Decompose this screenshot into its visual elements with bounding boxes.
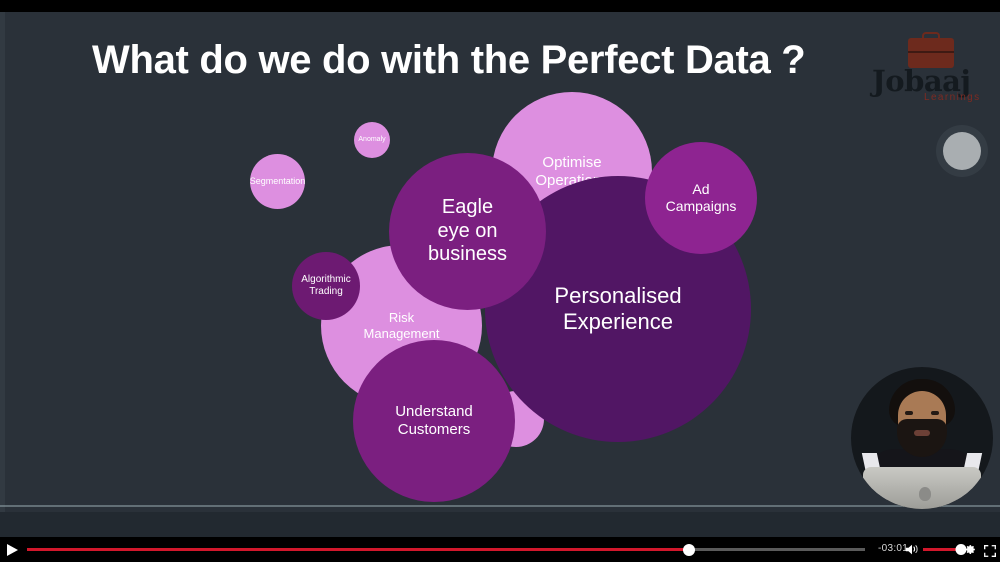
player-controls: -03:01 bbox=[0, 537, 1000, 562]
bubble-label: PersonalisedExperience bbox=[548, 283, 687, 335]
bubble-label: UnderstandCustomers bbox=[389, 403, 479, 438]
slide-canvas[interactable]: SegmentationAnomalyOptimiseOperationsAdC… bbox=[0, 12, 1000, 537]
bubble-label: Anomaly bbox=[352, 136, 391, 144]
bubble-label: AdCampaigns bbox=[660, 181, 743, 214]
brand-logo: Jobaaj Learnings bbox=[872, 38, 992, 106]
bubble-anomaly: Anomaly bbox=[354, 122, 390, 158]
bubble-ad-campaigns: AdCampaigns bbox=[645, 142, 757, 254]
laptop-icon bbox=[863, 467, 981, 509]
video-player: SegmentationAnomalyOptimiseOperationsAdC… bbox=[0, 0, 1000, 562]
slide-left-edge bbox=[0, 12, 5, 537]
apple-logo-icon bbox=[919, 487, 931, 501]
time-remaining: -03:01 bbox=[878, 543, 908, 554]
play-button[interactable] bbox=[7, 544, 18, 556]
record-indicator[interactable] bbox=[936, 125, 988, 177]
bubble-label: RiskManagement bbox=[358, 310, 446, 341]
webcam-mouth bbox=[914, 430, 930, 436]
volume-icon[interactable] bbox=[905, 543, 919, 556]
progress-played bbox=[27, 548, 689, 551]
bubble-algorithmic-trading: AlgorithmicTrading bbox=[292, 252, 360, 320]
gear-icon[interactable] bbox=[964, 543, 977, 556]
brand-subtitle: Learnings bbox=[924, 92, 981, 103]
presenter-webcam[interactable] bbox=[851, 367, 993, 509]
page-title: What do we do with the Perfect Data ? bbox=[92, 38, 805, 83]
bubble-understand-customers: UnderstandCustomers bbox=[353, 340, 515, 502]
fullscreen-icon[interactable] bbox=[984, 544, 996, 556]
bubble-label: Eagleeye onbusiness bbox=[422, 196, 513, 267]
progress-bar[interactable] bbox=[27, 548, 865, 551]
decor-line-1 bbox=[0, 505, 1000, 507]
bubble-label: AlgorithmicTrading bbox=[295, 274, 356, 298]
slide-bottom-band bbox=[0, 512, 1000, 537]
webcam-eye-right bbox=[931, 411, 939, 415]
record-indicator-dot bbox=[943, 132, 981, 170]
bubble-segmentation: Segmentation bbox=[250, 154, 305, 209]
bubble-label: Segmentation bbox=[244, 176, 312, 187]
bubble-eagle-eye-on-business: Eagleeye onbusiness bbox=[389, 153, 546, 310]
progress-scrubber[interactable] bbox=[683, 544, 695, 556]
volume-slider[interactable] bbox=[923, 548, 961, 551]
webcam-eye-left bbox=[905, 411, 913, 415]
